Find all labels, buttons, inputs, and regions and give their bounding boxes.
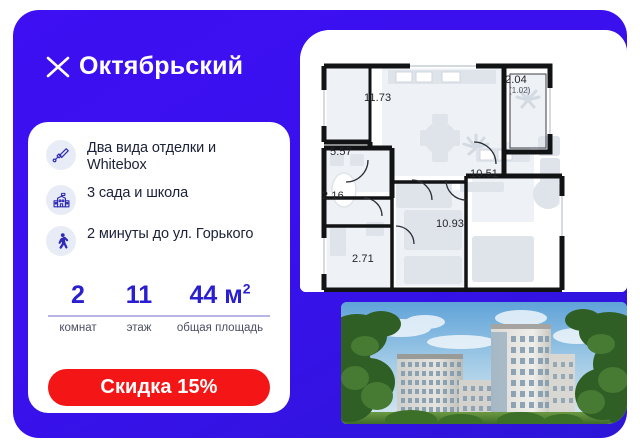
info-card: Два вида отделки и Whitebox	[28, 122, 290, 413]
stats-labels-row: комнат этаж общая площадь	[48, 322, 270, 336]
stat-rooms-label: комнат	[48, 322, 108, 336]
room-area-balcony: 2.04	[505, 74, 527, 86]
stat-area: 44 м2	[170, 282, 270, 309]
stat-floor-value: 11	[108, 282, 170, 309]
room-area-bedroom-lower: 10.93	[436, 218, 464, 230]
stat-area-value: 44 м2	[170, 282, 270, 309]
residential-complex-exterior-photo	[341, 302, 627, 424]
feature-item: Два вида отделки и Whitebox	[46, 140, 276, 174]
stat-area-label: общая площадь	[170, 322, 270, 336]
complex-photo[interactable]	[341, 302, 627, 424]
room-area-bedroom-upper: 10.51	[470, 168, 498, 180]
stat-floor: 11	[108, 282, 170, 309]
room-area-hallway: 5.57	[330, 146, 352, 158]
room-area-corridor: 2.71	[352, 253, 374, 265]
feature-item: 3 сада и школа	[46, 185, 276, 215]
walking-person-icon	[46, 226, 76, 256]
stat-rooms-value: 2	[48, 282, 108, 309]
feature-item: 2 минуты до ул. Горького	[46, 226, 276, 256]
discount-button[interactable]: Скидка 15%	[48, 369, 270, 406]
stat-rooms: 2	[48, 282, 108, 309]
stats-values-row: 2 11 44 м2	[48, 282, 270, 315]
brand-logo[interactable]: Октябрьский	[46, 52, 243, 81]
feature-label: 3 сада и школа	[87, 185, 188, 202]
x-mark-icon	[46, 56, 70, 78]
feature-label: 2 минуты до ул. Горького	[87, 226, 253, 243]
trowel-icon	[46, 140, 76, 170]
feature-label: Два вида отделки и Whitebox	[87, 140, 276, 174]
school-building-icon	[46, 185, 76, 215]
promo-card-root: Октябрьский Два вида отделки и Whitebox	[0, 0, 640, 448]
room-area-balcony-sub: (1.02)	[509, 86, 531, 95]
stats-block: 2 11 44 м2 комнат этаж общая площадь	[48, 282, 270, 335]
stat-floor-label: этаж	[108, 322, 170, 336]
features-list: Два вида отделки и Whitebox	[46, 140, 276, 267]
floor-plan-card[interactable]: 11.73 2.04 (1.02) 5.57 10.51 10.93 2.16 …	[300, 30, 627, 292]
floor-plan-diagram	[300, 30, 627, 292]
room-area-living-kitchen: 11.73	[364, 92, 391, 104]
room-area-bathroom: 2.16	[322, 190, 344, 202]
stats-divider	[48, 315, 270, 317]
brand-name: Октябрьский	[79, 52, 243, 81]
